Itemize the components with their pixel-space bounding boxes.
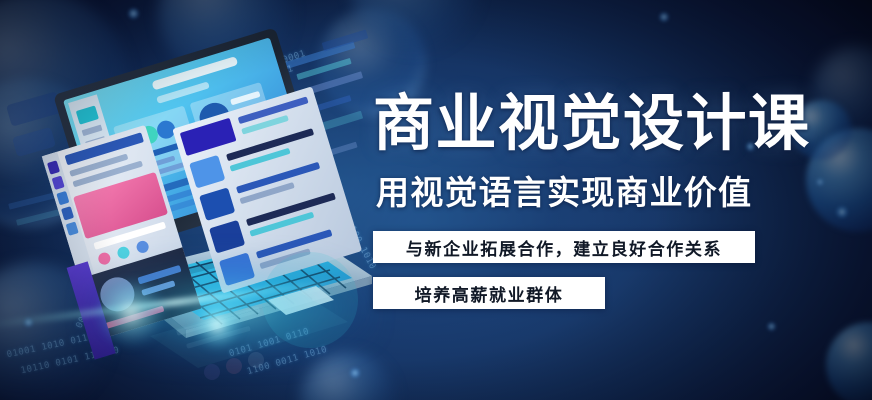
binary-stream-12: 0110 1100 0101 0011: [289, 149, 352, 253]
binary-stream-8: 01001 1010 0110 1: [6, 330, 107, 362]
floating-panel-right: [172, 86, 362, 293]
laptop-base: [118, 228, 372, 338]
binary-stream-7: 0011 1100 1010 0101: [75, 225, 134, 331]
stripe-bg-8: [16, 208, 64, 225]
stripe-bg-2: [296, 58, 351, 80]
tagline-box-1: 与新企业拓展合作，建立良好合作关系: [373, 231, 755, 263]
bokeh-bubble-topmid: [158, 0, 293, 81]
laptop-lid: [53, 27, 324, 255]
stripe-bg-7: [8, 188, 72, 209]
bokeh-dot-1: [128, 8, 139, 19]
bokeh-dot-7: [350, 368, 360, 378]
stripe-bg-4: [290, 95, 351, 119]
bokeh-bubble-topleft-large: [0, 0, 130, 180]
binary-stream-5: 0110 1001 0100 1100: [109, 137, 219, 182]
binary-stream-13: 1001 0110 1100 1010: [315, 167, 378, 271]
stripe-bg-11: [12, 127, 56, 157]
light-hotspot-1: [96, 278, 166, 348]
banner-text-block: 商业视觉设计课 用视觉语言实现商业价值 与新企业拓展合作，建立良好合作关系 培养…: [373, 0, 833, 400]
floating-panel-violet: [67, 261, 116, 359]
binary-stream-0: 0101 10010 110 0001: [197, 49, 307, 94]
bokeh-bubble-left-ring: [0, 78, 102, 228]
laptop-illustration: [0, 0, 400, 400]
bokeh-dot-4: [836, 206, 848, 218]
tagline-box-2: 培养高薪就业群体: [373, 277, 605, 309]
stripe-bg-1: [283, 41, 356, 69]
teal-glow-circle: [262, 252, 358, 348]
binary-stream-2: 0101010 1010 01 0110: [159, 82, 275, 129]
laptop-underglow: [80, 250, 380, 370]
tagline-text-2: 培养高薪就业群体: [415, 281, 564, 306]
bokeh-dot-8: [24, 318, 33, 327]
stripe-bg-5: [273, 111, 363, 146]
binary-stream-1: 1100011 0101 0011 11: [179, 64, 295, 111]
binary-stream-10: 0101 1001 0110: [228, 327, 311, 360]
stripe-bg-10: [6, 91, 62, 126]
stripe-bg-3: [277, 71, 363, 103]
binary-stream-11: 1100 0011 1010: [246, 345, 329, 378]
keyboard-key-grid: [150, 238, 346, 324]
light-streak: [0, 277, 359, 329]
keyboard-keys: [152, 243, 296, 282]
floating-panel-left: [42, 125, 201, 340]
binary-stream-4: 0100110 1011 0110 11: [123, 118, 239, 165]
binary-stream-3: 11001 0101 1001 0100: [141, 100, 257, 147]
banner-subtitle: 用视觉语言实现商业价值: [376, 172, 752, 214]
laptop-svg: [0, 0, 400, 400]
reflection: [150, 292, 348, 380]
banner-title: 商业视觉设计课: [373, 88, 811, 158]
stripe-bg-13: [52, 180, 86, 205]
stripe-bg-12: [42, 150, 80, 177]
bokeh-bubble-left-low: [0, 262, 110, 400]
course-promo-banner: 0101 10010 110 0001 1100011 0101 0011 11…: [0, 0, 872, 400]
binary-stream-9: 10110 0101 1100 0: [20, 346, 121, 378]
stripe-bg-9: [322, 29, 369, 51]
light-hotspot-2: [192, 300, 242, 350]
tagline-text-1: 与新企业拓展合作，建立良好合作关系: [406, 235, 722, 260]
binary-stream-6: 1010 0110 0011 0101: [85, 189, 144, 295]
stripe-bg-6: [300, 142, 357, 165]
